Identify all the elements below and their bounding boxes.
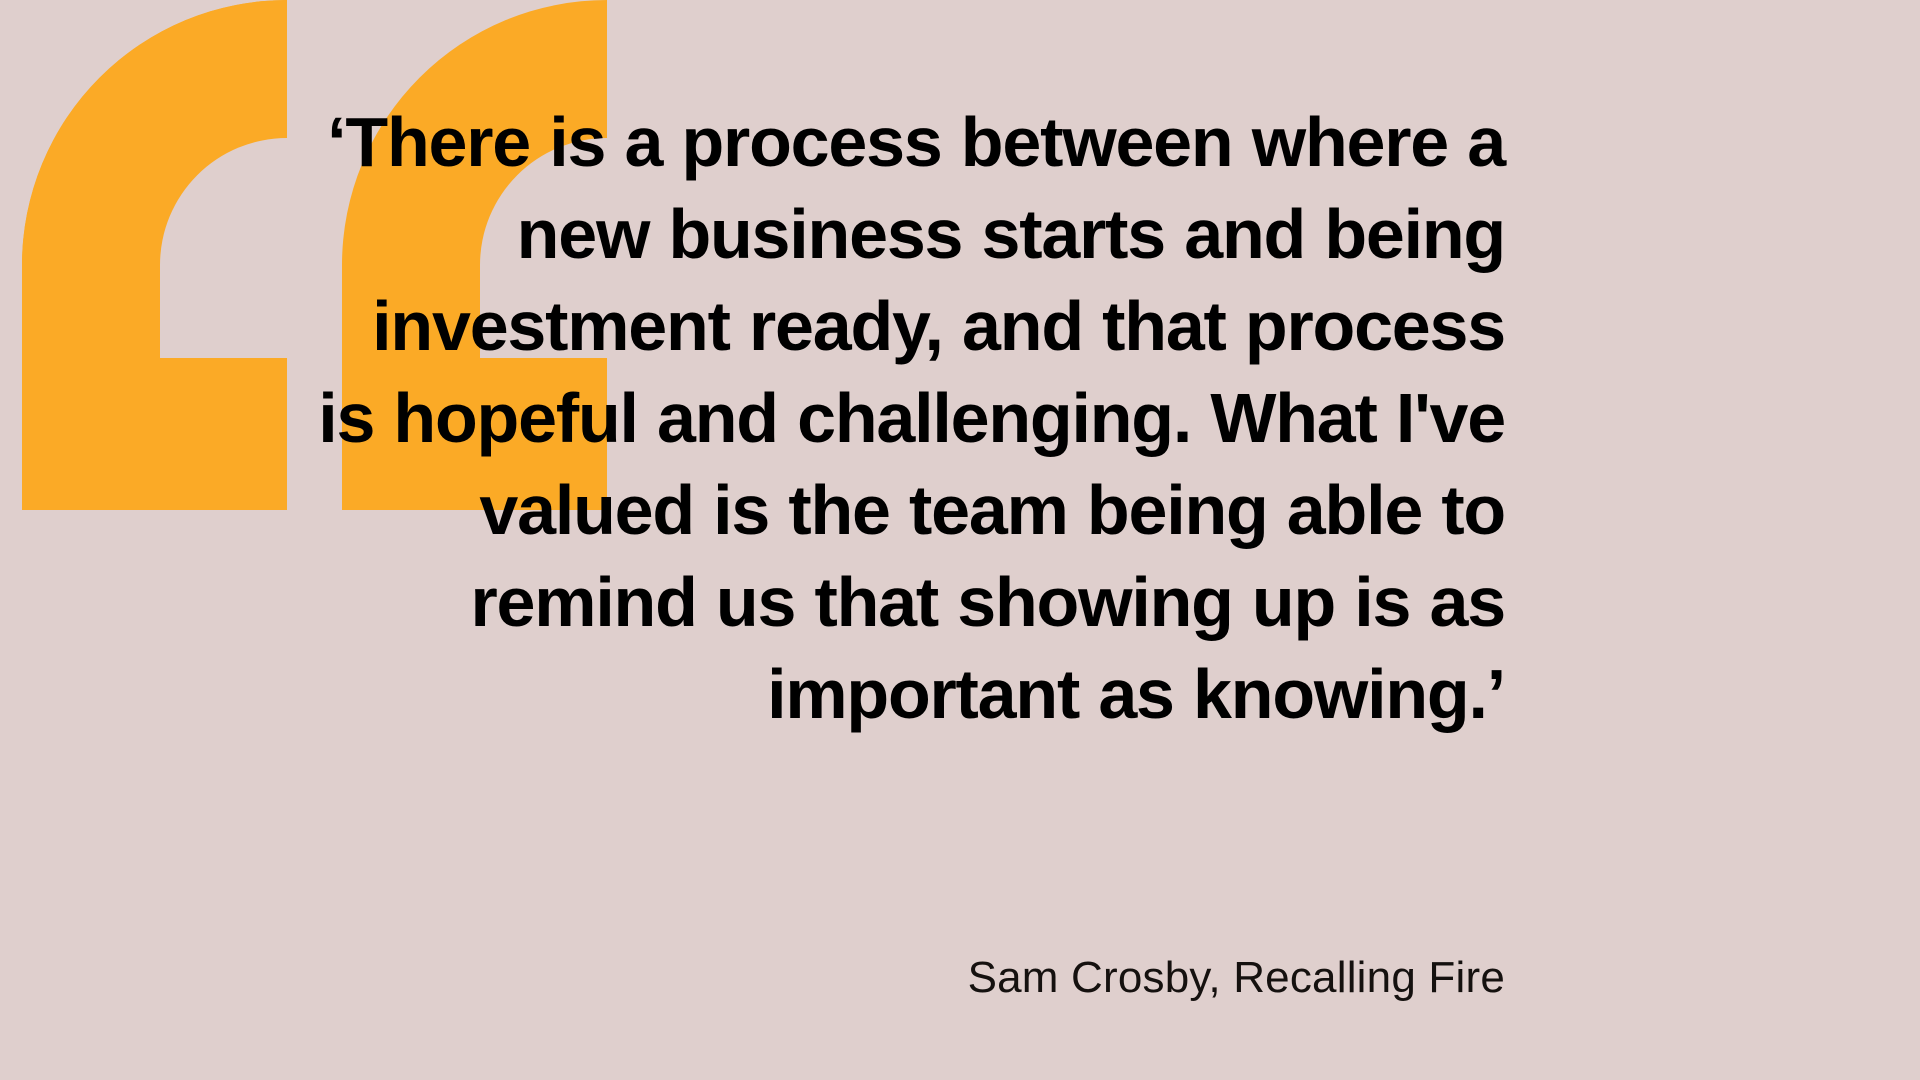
quote-body: ‘There is a process between where a new … [300, 96, 1505, 740]
quote-card: ‘There is a process between where a new … [0, 0, 1920, 1080]
quote-comma-first [22, 0, 287, 510]
attribution-container: Sam Crosby, Recalling Fire [300, 952, 1505, 1004]
quote-text-container: ‘There is a process between where a new … [300, 96, 1505, 740]
attribution-line: Sam Crosby, Recalling Fire [300, 952, 1505, 1004]
